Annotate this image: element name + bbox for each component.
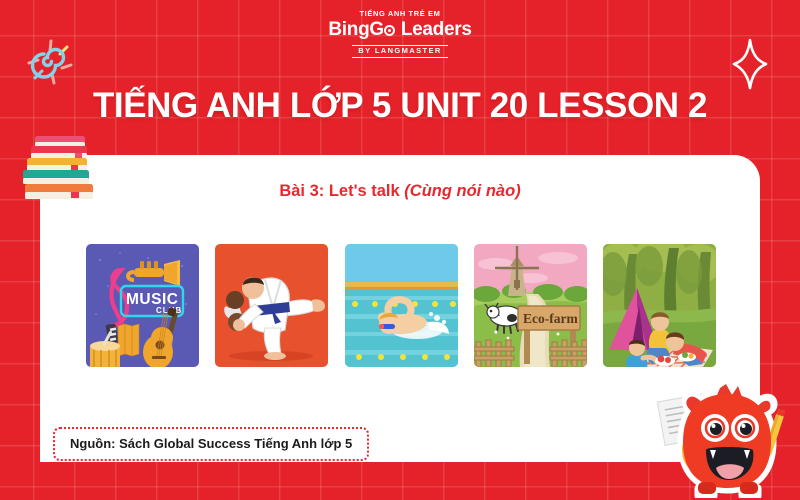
lesson-subtitle: Bài 3: Let's talk (Cùng nói nào) <box>40 182 760 201</box>
picture-music-club[interactable]: MUSIC CLUB <box>86 244 199 367</box>
page-title: TIẾNG ANH LỚP 5 UNIT 20 LESSON 2 <box>0 86 800 126</box>
picture-camping[interactable] <box>603 244 716 367</box>
brand-wordmark-left: BingG <box>328 19 384 40</box>
picture-swimming[interactable] <box>345 244 458 367</box>
brand-byline: BY LANGMASTER <box>352 45 447 58</box>
source-badge: Nguồn: Sách Global Success Tiếng Anh lớp… <box>53 427 369 461</box>
brand-kicker: TIẾNG ANH TRẺ EM <box>0 10 800 18</box>
picture-eco-farm[interactable]: Eco-farm <box>474 244 587 367</box>
slide-canvas: TIẾNG ANH TRẺ EM BingG Leaders BY LANGMA… <box>0 0 800 500</box>
picture-row: MUSIC CLUB <box>86 244 716 367</box>
lesson-subtitle-italic: (Cùng nói nào) <box>404 182 520 200</box>
content-card: Bài 3: Let's talk (Cùng nói nào) <box>40 155 760 462</box>
picture-karate[interactable] <box>215 244 328 367</box>
brand-logo: TIẾNG ANH TRẺ EM BingG Leaders BY LANGMA… <box>0 10 800 58</box>
picture-eco-farm-label: Eco-farm <box>523 311 578 326</box>
brand-wordmark-right: Leaders <box>401 19 472 40</box>
bingo-circle-icon <box>384 25 395 36</box>
lesson-subtitle-bold: Bài 3: Let's talk <box>279 182 399 200</box>
brand-wordmark: BingG Leaders <box>0 19 800 41</box>
